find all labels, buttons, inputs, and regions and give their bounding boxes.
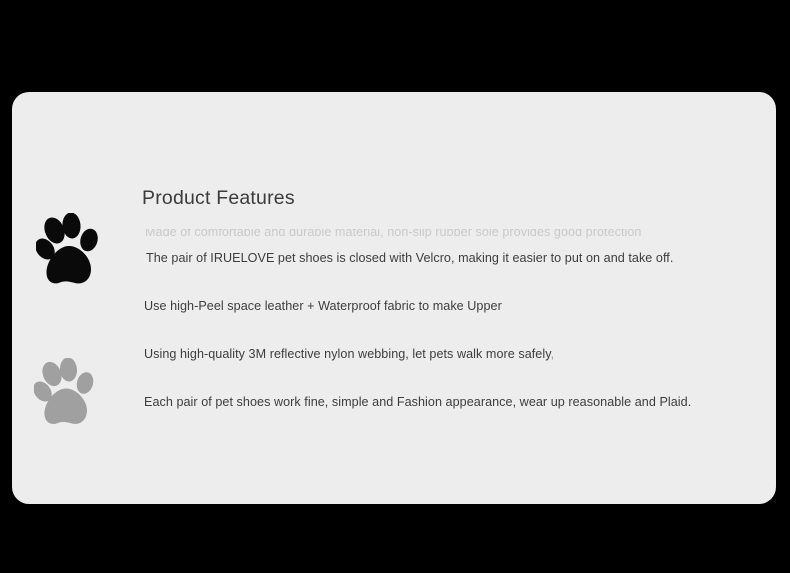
feature-line: The pair of IRUELOVE pet shoes is closed… bbox=[146, 250, 673, 266]
page-title: Product Features bbox=[142, 187, 295, 210]
feature-line: Using high-quality 3M reflective nylon w… bbox=[144, 346, 554, 362]
product-features-card: Product Features Made of comfortable and… bbox=[12, 92, 776, 504]
feature-line-clipped-container: Made of comfortable and durable material… bbox=[12, 229, 776, 240]
feature-line-clipped: Made of comfortable and durable material… bbox=[145, 229, 642, 240]
feature-line-trailing-mark: , bbox=[551, 347, 555, 361]
paw-print-icon bbox=[34, 358, 96, 428]
paw-print-icon bbox=[36, 213, 100, 289]
feature-line-text: Using high-quality 3M reflective nylon w… bbox=[144, 347, 551, 361]
feature-line: Use high-Peel space leather + Waterproof… bbox=[144, 298, 502, 314]
page-root: Product Features Made of comfortable and… bbox=[0, 0, 790, 573]
feature-line: Each pair of pet shoes work fine, simple… bbox=[144, 394, 691, 410]
